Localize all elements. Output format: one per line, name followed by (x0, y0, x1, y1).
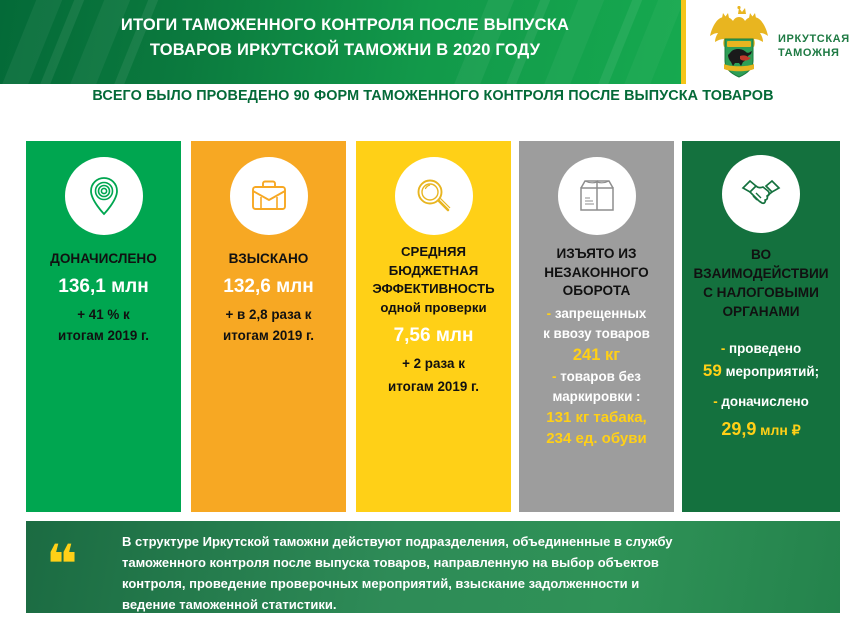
seized-item-1-value: 241 кг (523, 344, 670, 367)
bullet-dash: - (547, 306, 551, 321)
stat-card-body: ВО ВЗАИМОДЕЙСТВИИ С НАЛОГОВЫМИ ОРГАНАМИ … (686, 245, 836, 444)
seized-item-1-line-2: к ввозу товаров (523, 324, 670, 344)
cooperation-item-2-value-row: 29,9 млн ₽ (686, 416, 836, 444)
stat-note-line-1: + 2 раза к (360, 353, 507, 374)
stat-title-line-1: ВО (686, 245, 836, 264)
cooperation-item-2-text: доначислено (721, 394, 808, 409)
header-accent-bar (681, 0, 686, 84)
icon-circle (65, 157, 143, 235)
stat-title-line-1: ИЗЪЯТО ИЗ (523, 245, 670, 264)
icon-circle (230, 157, 308, 235)
quotation-mark-icon: ❝ (46, 547, 76, 583)
stat-card-tax-cooperation: ВО ВЗАИМОДЕЙСТВИИ С НАЛОГОВЫМИ ОРГАНАМИ … (682, 141, 840, 512)
stat-card-collected: ВЗЫСКАНО 132,6 млн + в 2,8 раза к итогам… (191, 141, 346, 512)
stat-title-line-1: СРЕДНЯЯ (360, 243, 507, 262)
stat-card-additional-charges: ДОНАЧИСЛЕНО 136,1 млн + 41 % к итогам 20… (26, 141, 181, 512)
stat-value: 132,6 млн (195, 274, 342, 300)
cooperation-item-2-unit: млн ₽ (760, 422, 801, 438)
page-header: ИТОГИ ТАМОЖЕННОГО КОНТРОЛЯ ПОСЛЕ ВЫПУСКА… (0, 0, 866, 84)
icon-circle (395, 157, 473, 235)
bullet-dash: - (713, 394, 717, 409)
page-title: ИТОГИ ТАМОЖЕННОГО КОНТРОЛЯ ПОСЛЕ ВЫПУСКА… (40, 13, 650, 63)
stat-title-line-3: С НАЛОГОВЫМИ (686, 283, 836, 302)
stat-title-line-2: ВЗАИМОДЕЙСТВИИ (686, 264, 836, 283)
stat-note-line-2: итогам 2019 г. (30, 325, 177, 346)
stat-value: 7,56 млн (360, 323, 507, 349)
magnifier-icon (411, 173, 457, 219)
stat-title: ВЗЫСКАНО (195, 249, 342, 268)
stat-card-seized-goods: ИЗЪЯТО ИЗ НЕЗАКОННОГО ОБОРОТА - запрещен… (519, 141, 674, 512)
quote-line-4: ведение таможенной статистики. (122, 594, 822, 615)
quote-line-1: В структуре Иркутской таможни действуют … (122, 531, 822, 552)
cooperation-item-1-value-row: 59 мероприятий; (686, 359, 836, 384)
cooperation-item-2-label: - доначислено (686, 392, 836, 412)
stat-title: ДОНАЧИСЛЕНО (30, 249, 177, 268)
icon-circle (558, 157, 636, 235)
logo-text-line-1: ИРКУТСКАЯ (778, 32, 850, 46)
cooperation-item-2-value: 29,9 (721, 419, 756, 439)
stat-note-line-1: + 41 % к (30, 304, 177, 325)
stat-title-line-3: ОБОРОТА (523, 282, 670, 301)
double-headed-eagle-emblem-icon (708, 6, 770, 78)
quote-text: В структуре Иркутской таможни действуют … (122, 531, 822, 615)
quote-line-2: таможенного контроля после выпуска товар… (122, 552, 822, 573)
cooperation-item-1-unit: мероприятий; (726, 364, 820, 379)
briefcase-icon (246, 173, 292, 219)
stat-card-body: ВЗЫСКАНО 132,6 млн + в 2,8 раза к итогам… (195, 249, 342, 346)
quote-block: ❝ В структуре Иркутской таможни действую… (26, 521, 840, 613)
seized-item-1-line-1: - запрещенных (523, 304, 670, 324)
seized-item-2-line-2: маркировки : (523, 387, 670, 407)
cooperation-item-1-label: - проведено (686, 339, 836, 359)
cooperation-item-1-text: проведено (729, 341, 801, 356)
open-box-icon (573, 172, 621, 220)
stat-card-body: ИЗЪЯТО ИЗ НЕЗАКОННОГО ОБОРОТА - запрещен… (523, 245, 670, 449)
quote-line-3: контроля, проведение проверочных меропри… (122, 573, 822, 594)
stat-note-line-1: + в 2,8 раза к (195, 304, 342, 325)
stat-title-line-4: одной проверки (360, 299, 507, 318)
seized-item-1-label: запрещенных (555, 306, 646, 321)
seized-item-2-line-1: - товаров без (523, 367, 670, 387)
stat-value: 136,1 млн (30, 274, 177, 300)
stat-card-body: СРЕДНЯЯ БЮДЖЕТНАЯ ЭФФЕКТИВНОСТЬ одной пр… (360, 243, 507, 397)
customs-logo: ИРКУТСКАЯ ТАМОЖНЯ (700, 6, 860, 80)
seized-item-2-value-1: 131 кг табака, (523, 407, 670, 428)
logo-text: ИРКУТСКАЯ ТАМОЖНЯ (778, 32, 850, 60)
seized-item-2-value-2: 234 ед. обуви (523, 428, 670, 449)
bullet-dash: - (721, 341, 725, 356)
subtitle-total-forms: ВСЕГО БЫЛО ПРОВЕДЕНО 90 ФОРМ ТАМОЖЕННОГО… (0, 88, 866, 104)
infographic-page: ИТОГИ ТАМОЖЕННОГО КОНТРОЛЯ ПОСЛЕ ВЫПУСКА… (0, 0, 866, 623)
cooperation-item-1-value: 59 (703, 361, 722, 380)
handshake-icon (737, 170, 785, 218)
stat-title-line-2: БЮДЖЕТНАЯ (360, 262, 507, 281)
stat-title-line-2: НЕЗАКОННОГО (523, 264, 670, 283)
page-title-line-2: ТОВАРОВ ИРКУТСКОЙ ТАМОЖНИ В 2020 ГОДУ (40, 38, 650, 63)
stat-title-line-3: ЭФФЕКТИВНОСТЬ (360, 280, 507, 299)
stat-note-line-2: итогам 2019 г. (360, 376, 507, 397)
seized-item-2-label: товаров без (560, 369, 641, 384)
stat-title-line-4: ОРГАНАМИ (686, 302, 836, 321)
stats-columns: ДОНАЧИСЛЕНО 136,1 млн + 41 % к итогам 20… (26, 141, 840, 512)
map-pin-icon (81, 173, 127, 219)
bullet-dash: - (552, 369, 556, 384)
stat-card-budget-efficiency: СРЕДНЯЯ БЮДЖЕТНАЯ ЭФФЕКТИВНОСТЬ одной пр… (356, 141, 511, 512)
icon-circle (722, 155, 800, 233)
stat-note-line-2: итогам 2019 г. (195, 325, 342, 346)
stat-card-body: ДОНАЧИСЛЕНО 136,1 млн + 41 % к итогам 20… (30, 249, 177, 346)
page-title-line-1: ИТОГИ ТАМОЖЕННОГО КОНТРОЛЯ ПОСЛЕ ВЫПУСКА (121, 16, 569, 34)
logo-text-line-2: ТАМОЖНЯ (778, 46, 850, 60)
